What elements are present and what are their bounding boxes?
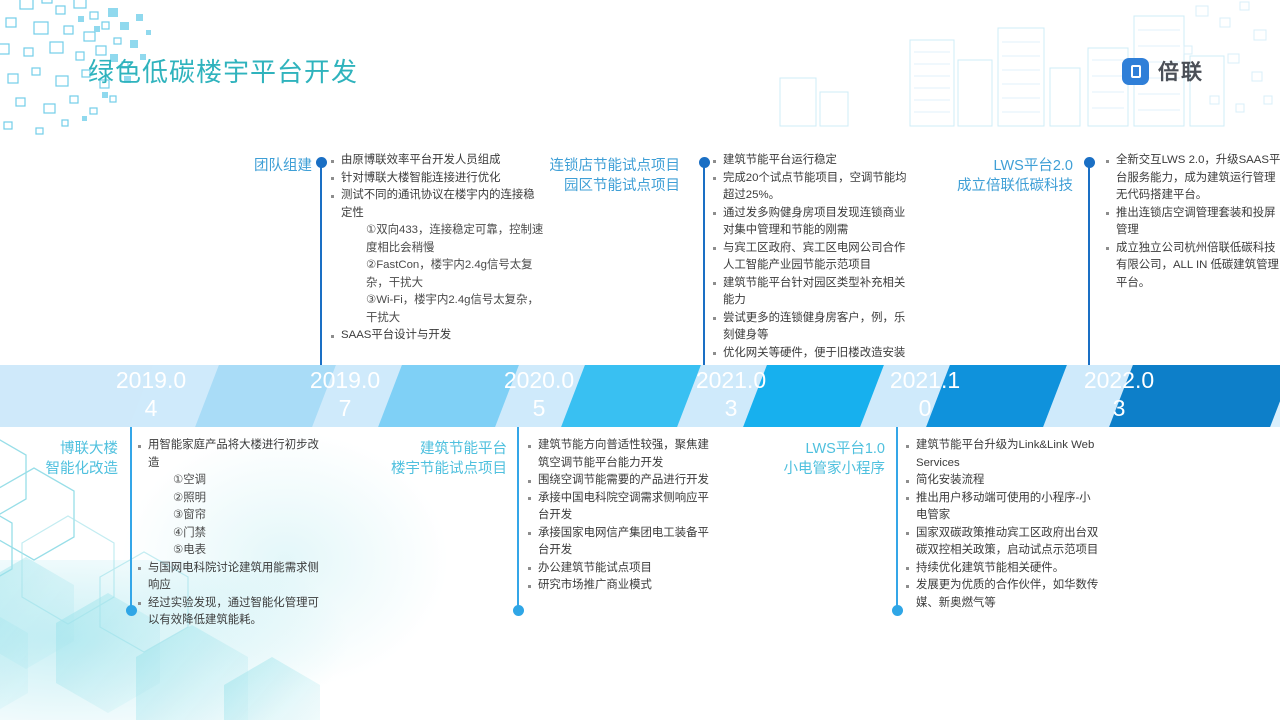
timeline-date-2020.05: 2020.05 bbox=[480, 366, 598, 422]
milestone-label: 建筑节能平台楼宇节能试点项目 bbox=[382, 439, 507, 479]
brand-name: 倍联 bbox=[1158, 56, 1204, 86]
page-title: 绿色低碳楼宇平台开发 bbox=[88, 52, 358, 89]
milestone-label: LWS平台2.0成立倍联低碳科技 bbox=[895, 156, 1073, 196]
milestone-bullet-item: 国家双碳政策推动宾工区政府出台双碳双控相关政策，启动试点示范项目 bbox=[905, 525, 1101, 560]
milestone-bullet-list: 全新交互LWS 2.0，升级SAAS平台服务能力，成为建筑运行管理无代码搭建平台… bbox=[1105, 152, 1280, 292]
connector-dot-3 bbox=[1084, 157, 1095, 168]
timeline-date-2022.03: 2022.03 bbox=[1060, 366, 1178, 422]
connector-line-5 bbox=[517, 427, 519, 610]
milestone-bullet-item: 研究市场推广商业模式 bbox=[527, 577, 712, 595]
timeline-date-labels: 2019.042019.072020.052021.032021.102022.… bbox=[0, 365, 1280, 427]
connector-dot-6 bbox=[892, 605, 903, 616]
connector-line-3 bbox=[1088, 162, 1090, 365]
connector-dot-1 bbox=[316, 157, 327, 168]
brand-logo: 倍联 bbox=[1122, 56, 1204, 86]
milestone-label: LWS平台1.0小电管家小程序 bbox=[762, 439, 885, 479]
slide-canvas: 绿色低碳楼宇平台开发 倍联 2019.042019.072020.052021.… bbox=[0, 0, 1280, 720]
milestone-sub-item: ③Wi-Fi，楼宇内2.4g信号太复杂，干扰大 bbox=[330, 292, 545, 327]
milestone-bullet-item: 建筑节能方向普适性较强，聚焦建筑空调节能平台能力开发 bbox=[527, 437, 712, 472]
connector-dot-5 bbox=[513, 605, 524, 616]
milestone-bullet-item: 发展更为优质的合作伙伴，如华数传媒、新奥燃气等 bbox=[905, 577, 1101, 612]
milestone-sub-item: ①双向433，连接稳定可靠，控制速度相比会稍慢 bbox=[330, 222, 545, 257]
milestone-label: 团队组建 bbox=[150, 156, 312, 176]
milestone-body: 用智能家庭产品将大楼进行初步改造①空调②照明③窗帘④门禁⑤电表与国网电科院讨论建… bbox=[137, 437, 322, 630]
milestone-bullet-list: 用智能家庭产品将大楼进行初步改造①空调②照明③窗帘④门禁⑤电表与国网电科院讨论建… bbox=[137, 437, 322, 630]
milestone-sub-item: ④门禁 bbox=[137, 525, 322, 543]
milestone-sub-item: ③窗帘 bbox=[137, 507, 322, 525]
milestone-bullet-item: 推出连锁店空调管理套装和投屏管理 bbox=[1105, 205, 1280, 240]
connector-line-4 bbox=[130, 427, 132, 610]
milestone-sub-item: ②照明 bbox=[137, 490, 322, 508]
milestone-bullet-item: 经过实验发现，通过智能化管理可以有效降低建筑能耗。 bbox=[137, 595, 322, 630]
milestone-bullet-item: 承接中国电科院空调需求侧响应平台开发 bbox=[527, 490, 712, 525]
milestone-body: 建筑节能平台升级为Link&Link Web Services简化安装流程推出用… bbox=[905, 437, 1101, 612]
milestone-bullet-item: 全新交互LWS 2.0，升级SAAS平台服务能力，成为建筑运行管理无代码搭建平台… bbox=[1105, 152, 1280, 205]
rounded-square-logo-icon bbox=[1122, 58, 1149, 85]
connector-line-2 bbox=[703, 162, 705, 365]
milestone-sub-item: ①空调 bbox=[137, 472, 322, 490]
connector-dot-2 bbox=[699, 157, 710, 168]
connector-dot-4 bbox=[126, 605, 137, 616]
milestone-bullet-item: 通过发多购健身房项目发现连锁商业对集中管理和节能的刚需 bbox=[712, 205, 910, 240]
milestone-bullet-item: 简化安装流程 bbox=[905, 472, 1101, 490]
milestone-bullet-item: 建筑节能平台升级为Link&Link Web Services bbox=[905, 437, 1101, 472]
milestone-body: 建筑节能方向普适性较强，聚焦建筑空调节能平台能力开发围绕空调节能需要的产品进行开… bbox=[527, 437, 712, 595]
milestone-bullet-item: 办公建筑节能试点项目 bbox=[527, 560, 712, 578]
milestone-bullet-item: 承接国家电网信产集团电工装备平台开发 bbox=[527, 525, 712, 560]
milestone-bullet-item: 成立独立公司杭州倍联低碳科技有限公司，ALL IN 低碳建筑管理平台。 bbox=[1105, 240, 1280, 293]
milestone-sub-item: ⑤电表 bbox=[137, 542, 322, 560]
milestone-bullet-item: 尝试更多的连锁健身房客户，例，乐刻健身等 bbox=[712, 310, 910, 345]
milestone-bullet-item: 与宾工区政府、宾工区电网公司合作人工智能产业园节能示范项目 bbox=[712, 240, 910, 275]
timeline-date-2021.10: 2021.10 bbox=[866, 366, 984, 422]
milestone-body: 全新交互LWS 2.0，升级SAAS平台服务能力，成为建筑运行管理无代码搭建平台… bbox=[1105, 152, 1280, 292]
milestone-label: 连锁店节能试点项目园区节能试点项目 bbox=[490, 156, 680, 196]
timeline-date-2019.04: 2019.04 bbox=[92, 366, 210, 422]
milestone-bullet-item: 完成20个试点节能项目，空调节能均超过25%。 bbox=[712, 170, 910, 205]
milestone-bullet-item: SAAS平台设计与开发 bbox=[330, 327, 545, 345]
milestone-bullet-item: 推出用户移动端可使用的小程序-小电管家 bbox=[905, 490, 1101, 525]
timeline-date-2019.07: 2019.07 bbox=[286, 366, 404, 422]
milestone-bullet-list: 建筑节能平台运行稳定完成20个试点节能项目，空调节能均超过25%。通过发多购健身… bbox=[712, 152, 910, 362]
milestone-bullet-item: 建筑节能平台运行稳定 bbox=[712, 152, 910, 170]
milestone-bullet-item: 与国网电科院讨论建筑用能需求侧响应 bbox=[137, 560, 322, 595]
connector-line-1 bbox=[320, 162, 322, 365]
timeline-date-2021.03: 2021.03 bbox=[672, 366, 790, 422]
milestone-body: 建筑节能平台运行稳定完成20个试点节能项目，空调节能均超过25%。通过发多购健身… bbox=[712, 152, 910, 362]
connector-line-6 bbox=[896, 427, 898, 610]
milestone-bullet-list: 建筑节能平台升级为Link&Link Web Services简化安装流程推出用… bbox=[905, 437, 1101, 612]
milestone-label: 博联大楼智能化改造 bbox=[0, 439, 118, 479]
slide-header: 绿色低碳楼宇平台开发 倍联 bbox=[0, 0, 1280, 135]
milestone-bullet-item: 持续优化建筑节能相关硬件。 bbox=[905, 560, 1101, 578]
milestone-bullet-item: 用智能家庭产品将大楼进行初步改造 bbox=[137, 437, 322, 472]
milestone-bullet-item: 建筑节能平台针对园区类型补充相关能力 bbox=[712, 275, 910, 310]
milestone-sub-item: ②FastCon，楼宇内2.4g信号太复杂，干扰大 bbox=[330, 257, 545, 292]
milestone-bullet-list: 建筑节能方向普适性较强，聚焦建筑空调节能平台能力开发围绕空调节能需要的产品进行开… bbox=[527, 437, 712, 595]
milestone-bullet-item: 优化网关等硬件，便于旧楼改造安装 bbox=[712, 345, 910, 363]
milestone-bullet-item: 围绕空调节能需要的产品进行开发 bbox=[527, 472, 712, 490]
